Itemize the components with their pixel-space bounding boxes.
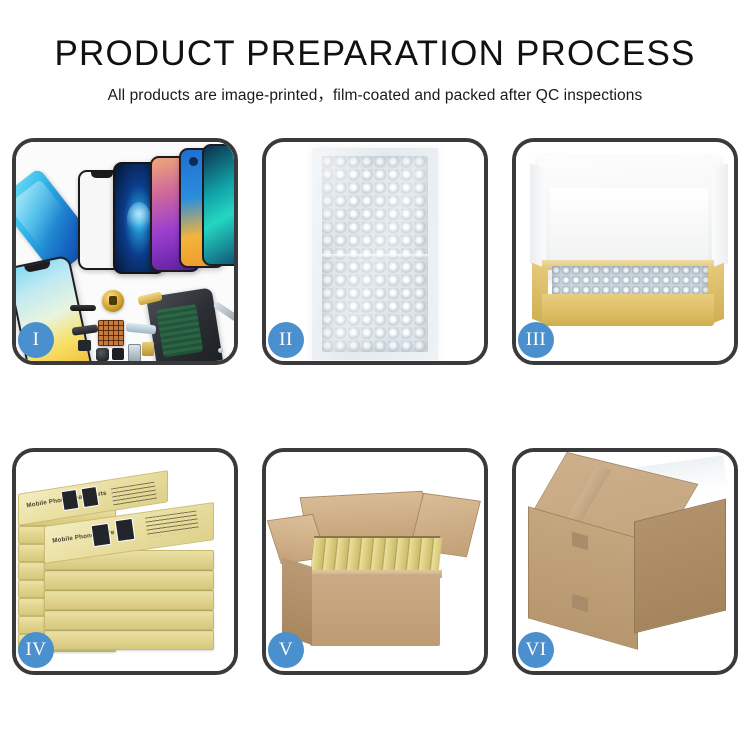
sealed-carton-side-image	[634, 499, 726, 634]
process-step-3: III	[512, 138, 738, 365]
phone-screen-teal-image	[202, 144, 234, 266]
adhesive-tape-part-image	[142, 342, 154, 356]
camera-module-image	[96, 348, 109, 361]
chip-part-b-image	[112, 348, 124, 360]
step-badge-6: VI	[518, 632, 554, 668]
process-step-5: V	[262, 448, 488, 675]
page-title: PRODUCT PREPARATION PROCESS	[0, 34, 750, 74]
inner-box-lid-right-flap-image	[712, 164, 728, 269]
screw-image	[222, 360, 227, 361]
process-step-1: I	[12, 138, 238, 365]
earpiece-part-image	[70, 305, 96, 311]
battery-connector-image	[128, 344, 141, 361]
page-subtitle: All products are image-printed，film-coat…	[0, 83, 750, 105]
process-step-grid: I II III	[12, 138, 738, 675]
connector-grid-part-image	[98, 320, 124, 346]
retail-box-side	[44, 630, 214, 650]
process-step-4: Mobile Phone Spare Parts Mobile Phone Sp…	[12, 448, 238, 675]
screw-image	[218, 348, 223, 353]
step-badge-1: I	[18, 322, 54, 358]
retail-box-product-photo	[91, 523, 112, 547]
process-step-6: VI	[512, 448, 738, 675]
retail-box-product-photo	[81, 486, 100, 508]
step-badge-4: IV	[18, 632, 54, 668]
inner-box-foam-image	[550, 188, 708, 266]
process-step-2: II	[262, 138, 488, 365]
retail-box-product-photo	[115, 518, 136, 542]
page-header: PRODUCT PREPARATION PROCESS All products…	[0, 0, 750, 105]
carton-front-panel-image	[310, 574, 440, 646]
inner-box-lid-left-flap-image	[530, 164, 546, 269]
speaker-module-image	[102, 290, 124, 312]
retail-box-side	[44, 610, 214, 630]
step-badge-3: III	[518, 322, 554, 358]
chip-part-a-image	[78, 340, 91, 351]
inner-box-front-panel-image	[542, 294, 714, 326]
step-badge-5: V	[268, 632, 304, 668]
screw-image	[228, 354, 233, 359]
retail-box-product-photo	[61, 489, 80, 511]
step-badge-2: II	[268, 322, 304, 358]
retail-box-side	[44, 590, 214, 610]
bubble-wrap-seam-image	[322, 254, 428, 258]
retail-box-side	[44, 570, 214, 590]
